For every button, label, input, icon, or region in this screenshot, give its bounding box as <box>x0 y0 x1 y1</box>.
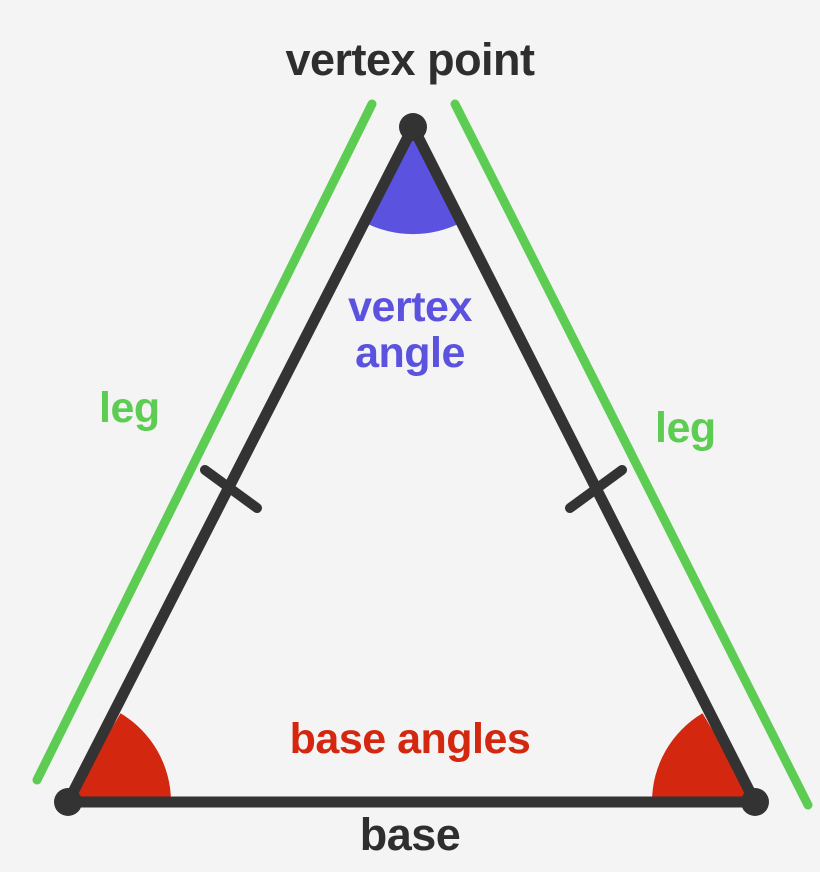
base-label: base <box>0 811 820 860</box>
isosceles-triangle-diagram: vertex point vertexangle leg leg base an… <box>0 0 820 872</box>
base-angles-label: base angles <box>0 716 820 762</box>
apex-vertex-dot <box>399 113 427 141</box>
leg-label-left: leg <box>99 385 160 431</box>
leg-label-right: leg <box>655 405 716 451</box>
vertex-angle-label: vertexangle <box>0 284 820 377</box>
vertex-point-label: vertex point <box>0 36 820 85</box>
vertex-angle-label-line1: vertex <box>348 283 472 331</box>
vertex-angle-label-line2: angle <box>0 330 820 376</box>
